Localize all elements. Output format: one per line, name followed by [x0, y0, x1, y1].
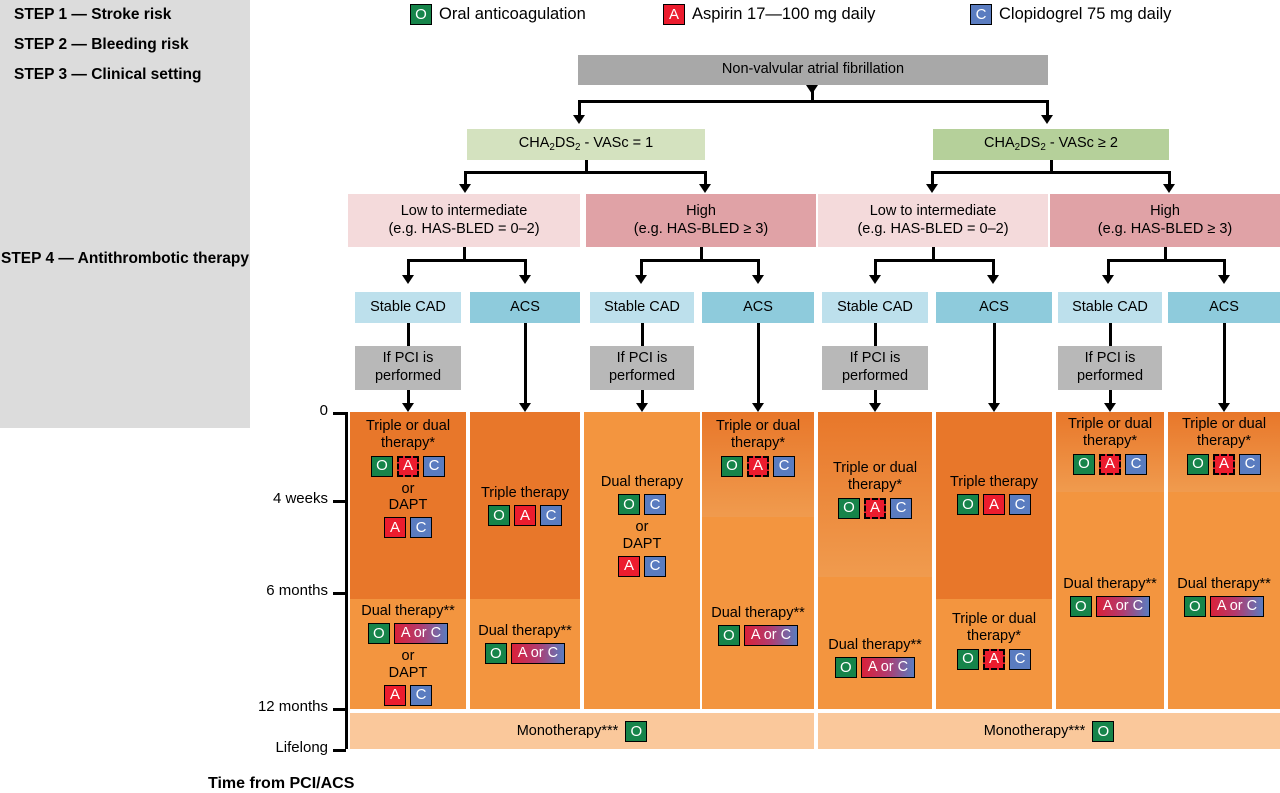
therapy-column-7: Triple or dual therapy*OACDual therapy**… — [1056, 412, 1164, 709]
time-axis-label-2: 4 weeks — [180, 490, 328, 507]
therapy-segment-2-2: Dual therapy**OA or C — [470, 599, 580, 709]
therapy-segment-7-2: Dual therapy**OA or C — [1056, 492, 1164, 709]
therapy-title: Dual therapy** — [1177, 576, 1271, 593]
therapy-title: Triple or dual therapy* — [938, 611, 1050, 646]
drug-row: OAC — [371, 456, 445, 477]
drug-row: OC — [618, 494, 666, 515]
drug-badge-c: C — [1009, 649, 1031, 670]
drug-badge-o: O — [718, 625, 740, 646]
arrow-therapy-stablecad-1 — [402, 403, 414, 412]
therapy-title: Triple or dual therapy* — [352, 418, 464, 453]
bleeding-risk-box-4: High (e.g. HAS-BLED ≥ 3) — [1050, 194, 1280, 247]
drug-badge-a: A — [663, 4, 685, 25]
clinical-setting-label: ACS — [979, 299, 1009, 317]
drug-badge-a-optional: A — [1213, 454, 1235, 475]
drug-row: OA or C — [835, 657, 915, 678]
bleeding-risk-line2-1: (e.g. HAS-BLED = 0–2) — [388, 221, 539, 239]
legend: OOral anticoagulationAAspirin 17—100 mg … — [0, 0, 1280, 30]
drug-badge-a-or-c: A or C — [1210, 596, 1264, 617]
arrow-clinical-7 — [1102, 275, 1114, 284]
drug-row: OAC — [1073, 454, 1147, 475]
arrow-therapy-acs-4 — [1218, 403, 1230, 412]
therapy-alt-label: orDAPT — [389, 648, 428, 681]
time-axis-label-4: 12 months — [180, 698, 328, 715]
connector-bleed-l-1 — [407, 259, 410, 276]
arrow-to-stroke-1 — [573, 115, 585, 124]
drug-badge-o: O — [371, 456, 393, 477]
drug-badge-c: C — [970, 4, 992, 25]
drug-row: OAC — [1187, 454, 1261, 475]
therapy-segment-6-2: Triple or dual therapy*OAC — [936, 599, 1052, 709]
time-axis-label-3: 6 months — [180, 582, 328, 599]
drug-badge-c: C — [644, 556, 666, 577]
therapy-column-3: Dual therapyOCorDAPTAC — [584, 412, 700, 709]
clinical-setting-box-2: ACS — [470, 292, 580, 323]
therapy-segment-1-2: Dual therapy**OA or CorDAPTAC — [350, 599, 466, 709]
root-box: Non-valvular atrial fibrillation — [578, 55, 1048, 85]
time-axis-tick-2 — [333, 500, 346, 503]
drug-row: AC — [618, 556, 666, 577]
drug-badge-c: C — [1239, 454, 1261, 475]
drug-badge-o: O — [488, 505, 510, 526]
step4-label: STEP 4 — Antithrombotic therapy — [1, 249, 249, 268]
connector-bleed-l-3 — [874, 259, 877, 276]
drug-badge-o: O — [1187, 454, 1209, 475]
drug-badge-o: O — [1092, 721, 1114, 742]
arrow-clinical-2 — [519, 275, 531, 284]
therapy-column-2: Triple therapyOACDual therapy**OA or C — [470, 412, 580, 709]
legend-label-a: Aspirin 17—100 mg daily — [692, 3, 875, 25]
pci-note-line1: If PCI is — [850, 350, 901, 368]
monotherapy-label-left: Monotherapy*** — [517, 723, 619, 739]
time-axis-title: Time from PCI/ACS — [208, 775, 354, 793]
therapy-title: Dual therapy** — [828, 637, 922, 654]
drug-row: OA or C — [1184, 596, 1264, 617]
connector-bleed-r-1 — [524, 259, 527, 276]
bleeding-risk-box-3: Low to intermediate (e.g. HAS-BLED = 0–2… — [818, 194, 1048, 247]
drug-badge-o: O — [835, 657, 857, 678]
time-axis-line — [345, 412, 348, 749]
drug-row: OAC — [838, 498, 912, 519]
therapy-segment-4-2: Dual therapy**OA or C — [702, 517, 814, 709]
therapy-segment-8-2: Dual therapy**OA or C — [1168, 492, 1280, 709]
arrow-therapy-acs-2 — [752, 403, 764, 412]
drug-badge-a-optional: A — [747, 456, 769, 477]
clinical-setting-label: Stable CAD — [604, 299, 680, 317]
drug-badge-a-optional: A — [397, 456, 419, 477]
connector-root-left — [578, 100, 581, 116]
therapy-title: Dual therapy** — [361, 603, 455, 620]
monotherapy-label-right: Monotherapy*** — [984, 723, 1086, 739]
drug-row: OA or C — [718, 625, 798, 646]
therapy-column-1: Triple or dual therapy*OACorDAPTACDual t… — [350, 412, 466, 709]
clinical-setting-box-3: Stable CAD — [590, 292, 694, 323]
drug-badge-a-or-c: A or C — [1096, 596, 1150, 617]
monotherapy-bar-left: Monotherapy*** O — [350, 713, 814, 749]
pci-note-box-3: If PCI isperformed — [822, 346, 928, 390]
pci-note-line1: If PCI is — [617, 350, 668, 368]
pci-note-box-2: If PCI isperformed — [590, 346, 694, 390]
legend-label-o: Oral anticoagulation — [439, 3, 586, 25]
bleeding-risk-line1-4: High — [1150, 203, 1180, 221]
drug-badge-a: A — [384, 517, 406, 538]
drug-badge-a-or-c: A or C — [744, 625, 798, 646]
connector-clinical-to-pci-3 — [874, 323, 877, 346]
drug-badge-o: O — [485, 643, 507, 664]
therapy-title: Dual therapy — [601, 474, 683, 491]
arrow-clinical-1 — [402, 275, 414, 284]
therapy-title: Dual therapy** — [1063, 576, 1157, 593]
clinical-setting-label: Stable CAD — [837, 299, 913, 317]
pci-note-box-4: If PCI isperformed — [1058, 346, 1162, 390]
arrow-clinical-8 — [1218, 275, 1230, 284]
drug-badge-c: C — [644, 494, 666, 515]
bleeding-risk-line2-2: (e.g. HAS-BLED ≥ 3) — [634, 221, 768, 239]
bleeding-risk-line1-3: Low to intermediate — [870, 203, 997, 221]
drug-badge-a-optional: A — [864, 498, 886, 519]
legend-item-c: CClopidogrel 75 mg daily — [970, 3, 1171, 25]
therapy-segment-2-1: Triple therapyOAC — [470, 412, 580, 599]
connector-acs-to-therapy-3 — [993, 323, 996, 405]
time-axis-tick-4 — [333, 708, 346, 711]
legend-item-a: AAspirin 17—100 mg daily — [663, 3, 875, 25]
drug-badge-o: O — [957, 649, 979, 670]
arrow-clinical-4 — [752, 275, 764, 284]
time-axis-label-5: Lifelong — [180, 739, 328, 756]
arrow-clinical-5 — [869, 275, 881, 284]
arrow-therapy-stablecad-4 — [1104, 403, 1116, 412]
therapy-title: Triple therapy — [950, 474, 1038, 491]
drug-badge-o: O — [1070, 596, 1092, 617]
drug-badge-a: A — [983, 494, 1005, 515]
connector-s2-l — [931, 171, 934, 185]
drug-badge-a-or-c: A or C — [511, 643, 565, 664]
therapy-column-8: Triple or dual therapy*OACDual therapy**… — [1168, 412, 1280, 709]
clinical-setting-box-6: ACS — [936, 292, 1052, 323]
drug-badge-a: A — [514, 505, 536, 526]
stroke-risk-label-1: CHA2DS2 - VASc = 1 — [519, 135, 653, 154]
bleeding-risk-line2-3: (e.g. HAS-BLED = 0–2) — [857, 221, 1008, 239]
therapy-segment-8-1: Triple or dual therapy*OAC — [1168, 412, 1280, 492]
arrow-therapy-stablecad-3 — [869, 403, 881, 412]
connector-bleed-h-3 — [874, 259, 995, 262]
arrow-therapy-acs-3 — [988, 403, 1000, 412]
drug-row: OAC — [957, 494, 1031, 515]
connector-clinical-to-pci-4 — [1109, 323, 1112, 346]
therapy-title: Dual therapy** — [478, 623, 572, 640]
drug-badge-c: C — [410, 517, 432, 538]
connector-bleed-h-1 — [407, 259, 527, 262]
clinical-setting-box-4: ACS — [702, 292, 814, 323]
drug-badge-c: C — [410, 685, 432, 706]
connector-clinical-to-pci-1 — [407, 323, 410, 346]
pci-note-box-1: If PCI isperformed — [355, 346, 461, 390]
bleeding-risk-box-2: High (e.g. HAS-BLED ≥ 3) — [586, 194, 816, 247]
therapy-segment-3-1: Dual therapyOCorDAPTAC — [584, 412, 700, 709]
connector-acs-to-therapy-4 — [1223, 323, 1226, 405]
clinical-setting-label: ACS — [743, 299, 773, 317]
drug-badge-o: O — [618, 494, 640, 515]
connector-s1-l — [464, 171, 467, 185]
bleeding-risk-line1-1: Low to intermediate — [401, 203, 528, 221]
bleeding-risk-line2-4: (e.g. HAS-BLED ≥ 3) — [1098, 221, 1232, 239]
clinical-setting-box-5: Stable CAD — [822, 292, 928, 323]
connector-bleed-h-2 — [640, 259, 760, 262]
drug-badge-o: O — [1073, 454, 1095, 475]
drug-badge-c: C — [540, 505, 562, 526]
stroke-risk-box-1: CHA2DS2 - VASc = 1 — [467, 129, 705, 160]
drug-badge-a-or-c: A or C — [861, 657, 915, 678]
time-axis-endcap-2 — [333, 749, 346, 752]
drug-badge-o: O — [721, 456, 743, 477]
time-axis-label-1: 0 — [250, 402, 328, 419]
connector-clinical-to-pci-2 — [641, 323, 644, 346]
clinical-setting-label: Stable CAD — [1072, 299, 1148, 317]
clinical-setting-box-1: Stable CAD — [355, 292, 461, 323]
drug-row: AC — [384, 685, 432, 706]
monotherapy-bar-right: Monotherapy*** O — [818, 713, 1280, 749]
arrow-to-stroke-2 — [1041, 115, 1053, 124]
therapy-column-6: Triple therapyOACTriple or dual therapy*… — [936, 412, 1052, 709]
drug-badge-c: C — [423, 456, 445, 477]
connector-acs-to-therapy-2 — [757, 323, 760, 405]
pci-note-line2: performed — [842, 368, 908, 386]
drug-row: OAC — [721, 456, 795, 477]
arrow-therapy-acs-1 — [519, 403, 531, 412]
arrow-root-down — [806, 85, 818, 94]
connector-root-horizontal — [578, 100, 1048, 103]
clinical-setting-label: ACS — [510, 299, 540, 317]
bleeding-risk-line1-2: High — [686, 203, 716, 221]
drug-badge-a-optional: A — [1099, 454, 1121, 475]
therapy-title: Triple or dual therapy* — [1056, 416, 1164, 451]
connector-bleed-l-2 — [640, 259, 643, 276]
drug-badge-o: O — [957, 494, 979, 515]
arrow-bleed-3 — [926, 184, 938, 193]
therapy-segment-4-1: Triple or dual therapy*OAC — [702, 412, 814, 517]
legend-item-o: OOral anticoagulation — [410, 3, 586, 25]
sidebar-item-step3: STEP 3 — Clinical setting — [0, 60, 250, 90]
drug-badge-o: O — [838, 498, 860, 519]
therapy-title: Triple or dual therapy* — [1168, 416, 1280, 451]
clinical-setting-box-7: Stable CAD — [1058, 292, 1162, 323]
clinical-setting-label: Stable CAD — [370, 299, 446, 317]
therapy-title: Triple therapy — [481, 485, 569, 502]
pci-note-line1: If PCI is — [383, 350, 434, 368]
drug-row: OA or C — [368, 623, 448, 644]
drug-badge-a-optional: A — [983, 649, 1005, 670]
connector-bleed-r-2 — [757, 259, 760, 276]
drug-badge-a: A — [618, 556, 640, 577]
drug-badge-o: O — [1184, 596, 1206, 617]
pci-note-line2: performed — [1077, 368, 1143, 386]
time-axis-endcap-1 — [333, 412, 346, 415]
drug-badge-a: A — [384, 685, 406, 706]
step2-label: STEP 2 — Bleeding risk — [14, 36, 189, 54]
drug-badge-o: O — [368, 623, 390, 644]
therapy-alt-label: orDAPT — [389, 481, 428, 514]
sidebar-item-step2: STEP 2 — Bleeding risk — [0, 30, 250, 60]
therapy-title: Dual therapy** — [711, 605, 805, 622]
arrow-bleed-4 — [1163, 184, 1175, 193]
time-axis-tick-3 — [333, 592, 346, 595]
drug-row: OAC — [488, 505, 562, 526]
therapy-title: Triple or dual therapy* — [702, 418, 814, 453]
bleeding-risk-box-1: Low to intermediate (e.g. HAS-BLED = 0–2… — [348, 194, 580, 247]
therapy-title: Triple or dual therapy* — [819, 460, 931, 495]
pci-note-line1: If PCI is — [1085, 350, 1136, 368]
connector-s1-r — [704, 171, 707, 185]
therapy-column-5: Triple or dual therapy*OACDual therapy**… — [818, 412, 932, 709]
drug-row: OA or C — [1070, 596, 1150, 617]
therapy-segment-6-1: Triple therapyOAC — [936, 412, 1052, 599]
drug-badge-c: C — [890, 498, 912, 519]
drug-badge-c: C — [773, 456, 795, 477]
connector-acs-to-therapy-1 — [524, 323, 527, 405]
therapy-alt-label: orDAPT — [623, 519, 662, 552]
step3-label: STEP 3 — Clinical setting — [14, 66, 201, 84]
clinical-setting-box-8: ACS — [1168, 292, 1280, 323]
arrow-bleed-2 — [699, 184, 711, 193]
connector-bleed-h-4 — [1107, 259, 1226, 262]
therapy-segment-5-1: Triple or dual therapy*OAC — [818, 412, 932, 577]
arrow-bleed-1 — [459, 184, 471, 193]
connector-bleed-r-3 — [992, 259, 995, 276]
connector-bleed-r-4 — [1223, 259, 1226, 276]
drug-badge-c: C — [1125, 454, 1147, 475]
therapy-segment-1-1: Triple or dual therapy*OACorDAPTAC — [350, 412, 466, 599]
drug-badge-a-or-c: A or C — [394, 623, 448, 644]
root-label: Non-valvular atrial fibrillation — [722, 61, 904, 79]
connector-s2-r — [1168, 171, 1171, 185]
clinical-setting-label: ACS — [1209, 299, 1239, 317]
drug-row: OA or C — [485, 643, 565, 664]
connector-s2-h — [931, 171, 1171, 174]
legend-label-c: Clopidogrel 75 mg daily — [999, 3, 1171, 25]
drug-badge-c: C — [1009, 494, 1031, 515]
arrow-clinical-6 — [987, 275, 999, 284]
stroke-risk-label-2: CHA2DS2 - VASc ≥ 2 — [984, 135, 1118, 154]
therapy-column-4: Triple or dual therapy*OACDual therapy**… — [702, 412, 814, 709]
connector-root-right — [1046, 100, 1049, 116]
stroke-risk-box-2: CHA2DS2 - VASc ≥ 2 — [933, 129, 1169, 160]
arrow-therapy-stablecad-2 — [636, 403, 648, 412]
connector-s1-h — [464, 171, 707, 174]
connector-bleed-l-4 — [1107, 259, 1110, 276]
arrow-clinical-3 — [635, 275, 647, 284]
drug-row: AC — [384, 517, 432, 538]
drug-badge-o: O — [625, 721, 647, 742]
drug-badge-o: O — [410, 4, 432, 25]
therapy-segment-5-2: Dual therapy**OA or C — [818, 577, 932, 709]
pci-note-line2: performed — [609, 368, 675, 386]
pci-note-line2: performed — [375, 368, 441, 386]
sidebar-item-step4: STEP 4 — Antithrombotic therapy — [0, 90, 250, 428]
drug-row: OAC — [957, 649, 1031, 670]
therapy-segment-7-1: Triple or dual therapy*OAC — [1056, 412, 1164, 492]
